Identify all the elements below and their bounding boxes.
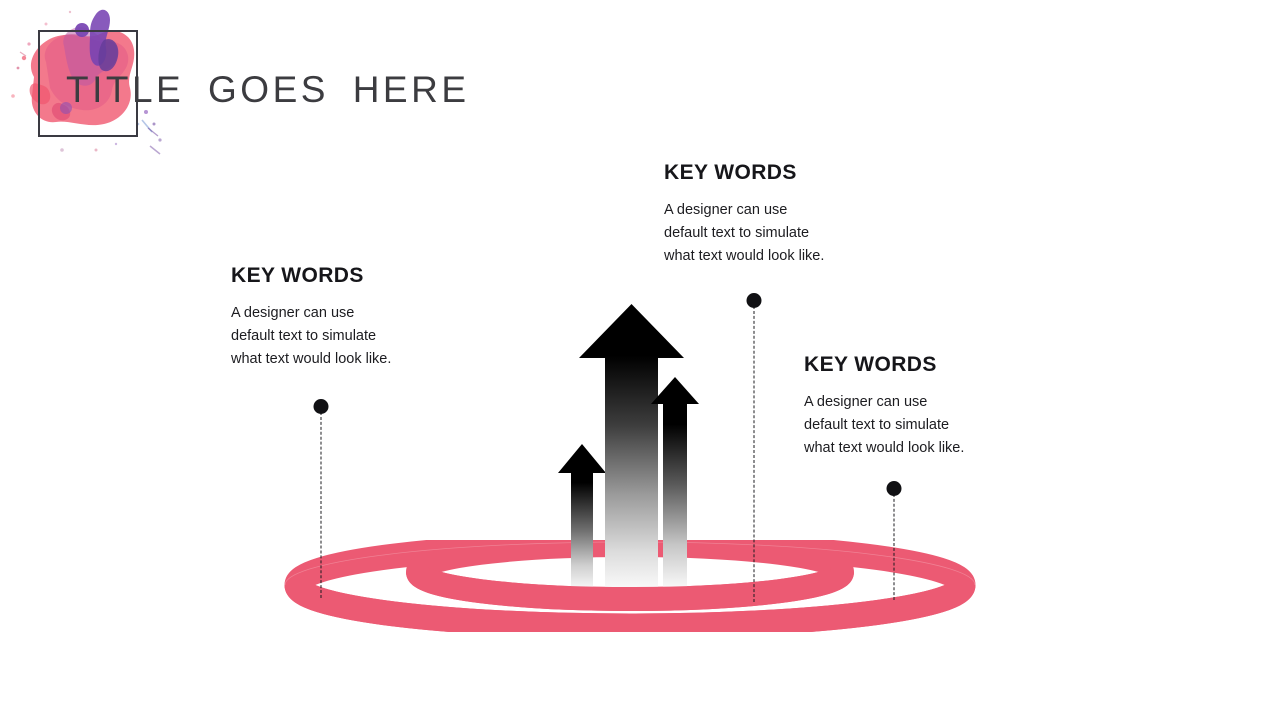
callout-right-line-3: what text would look like. [804, 437, 964, 460]
leader-left-dot[interactable] [314, 399, 329, 414]
leader-top-dot[interactable] [747, 293, 762, 308]
callout-top: KEY WORDS A designer can use default tex… [664, 161, 824, 268]
callout-top-line-3: what text would look like. [664, 245, 824, 268]
callout-left-title: KEY WORDS [231, 264, 391, 288]
leader-right-dot[interactable] [887, 481, 902, 496]
callout-top-line-1: A designer can use [664, 199, 824, 222]
leader-top-line [754, 306, 755, 602]
callout-right-line-1: A designer can use [804, 391, 964, 414]
callout-top-title: KEY WORDS [664, 161, 824, 185]
arrow-medium-right [651, 377, 699, 592]
leader-left-line [321, 412, 322, 598]
arrow-group [558, 304, 699, 592]
leader-right-line [894, 494, 895, 600]
callout-right-body: A designer can use default text to simul… [804, 391, 964, 460]
title-block: TITLE GOES HERE [0, 0, 470, 175]
callout-left-line-3: what text would look like. [231, 348, 391, 371]
callout-right-line-2: default text to simulate [804, 414, 964, 437]
callout-right-title: KEY WORDS [804, 353, 964, 377]
callout-top-body: A designer can use default text to simul… [664, 199, 824, 268]
arrow-small-left [558, 444, 606, 592]
callout-top-line-2: default text to simulate [664, 222, 824, 245]
slide-canvas: TITLE GOES HERE KEY WORDS A designer can… [0, 0, 1280, 720]
callout-left-body: A designer can use default text to simul… [231, 302, 391, 371]
callout-left-line-1: A designer can use [231, 302, 391, 325]
callout-right: KEY WORDS A designer can use default tex… [804, 353, 964, 460]
callout-left: KEY WORDS A designer can use default tex… [231, 264, 391, 371]
page-title: TITLE GOES HERE [66, 66, 470, 114]
callout-left-line-2: default text to simulate [231, 325, 391, 348]
